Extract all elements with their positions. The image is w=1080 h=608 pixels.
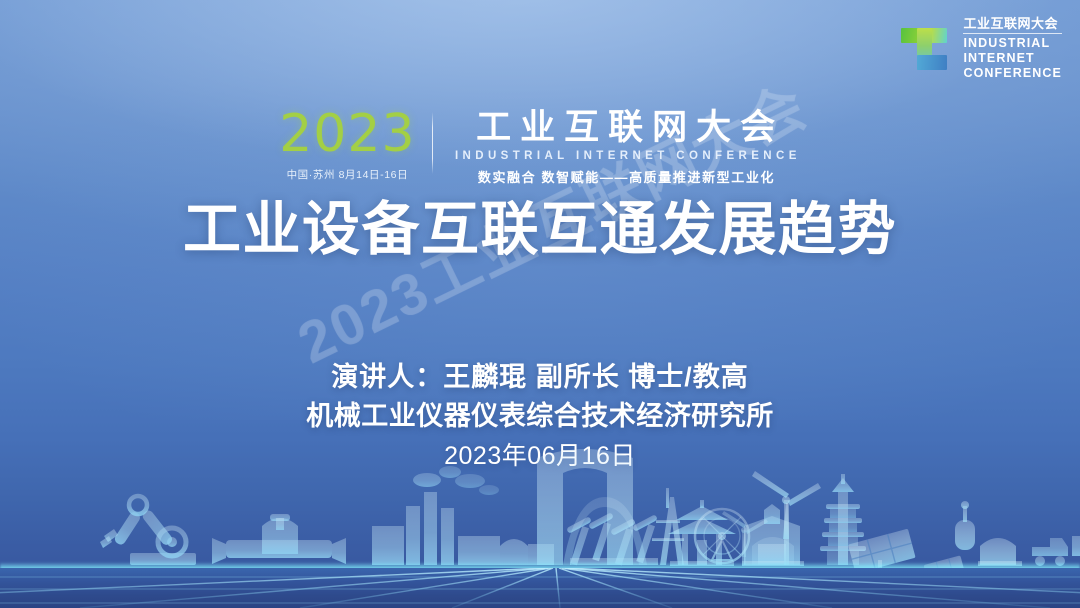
logomark-foot [917,55,947,70]
corner-logo: 工业互联网大会 INDUSTRIAL INTERNET CONFERENCE [897,16,1062,81]
ground-grid [0,568,1080,608]
exhibition-hall-silhouette [742,504,804,566]
speaker-organization: 机械工业仪器仪表综合技术经济研究所 [0,397,1080,436]
event-year-block: 2023 中国·苏州 8月14日-16日 [279,110,431,182]
event-year: 2023 [279,110,415,160]
storage-tank-silhouette [955,501,1022,566]
conference-logomark-icon [897,20,953,76]
corner-logo-text: 工业互联网大会 INDUSTRIAL INTERNET CONFERENCE [963,16,1062,81]
industrial-city-skyline [0,448,1080,570]
perspective-ground [0,568,1080,608]
event-en-title: INDUSTRIAL INTERNET CONFERENCE [451,150,801,162]
event-name-block: 工业互联网大会 INDUSTRIAL INTERNET CONFERENCE 数… [433,110,801,186]
event-cn-title: 工业互联网大会 [451,110,801,147]
bottom-scene [0,448,1080,608]
corner-logo-cn-name: 工业互联网大会 [963,16,1062,34]
robotic-arm-silhouette [100,496,196,565]
event-slogan: 数实融合 数智赋能——高质量推进新型工业化 [451,167,801,186]
gate-of-the-orient-silhouette [537,449,647,565]
corner-logo-en-line3: CONFERENCE [963,66,1062,81]
event-location-date: 中国·苏州 8月14日-16日 [279,167,415,182]
ferris-wheel-silhouette [695,509,749,563]
presentation-title-slide: 2023工业互联网大会 工业互联网大会 INDUSTRIAL INTERNET … [0,0,1080,608]
page-title: 工业设备互联互通发展趋势 [0,198,1080,262]
corner-logo-en-line2: INTERNET [963,51,1062,66]
event-lockup: 2023 中国·苏州 8月14日-16日 工业互联网大会 INDUSTRIAL … [0,110,1080,186]
factory-smokestacks-silhouette [372,466,554,565]
pipe-valve-silhouette [212,514,346,564]
lattice-tower-silhouette [652,488,684,565]
corner-logo-en-line1: INDUSTRIAL [963,36,1062,51]
speaker-name-line: 演讲人：王麟琨 副所长 博士/教高 [0,358,1080,397]
